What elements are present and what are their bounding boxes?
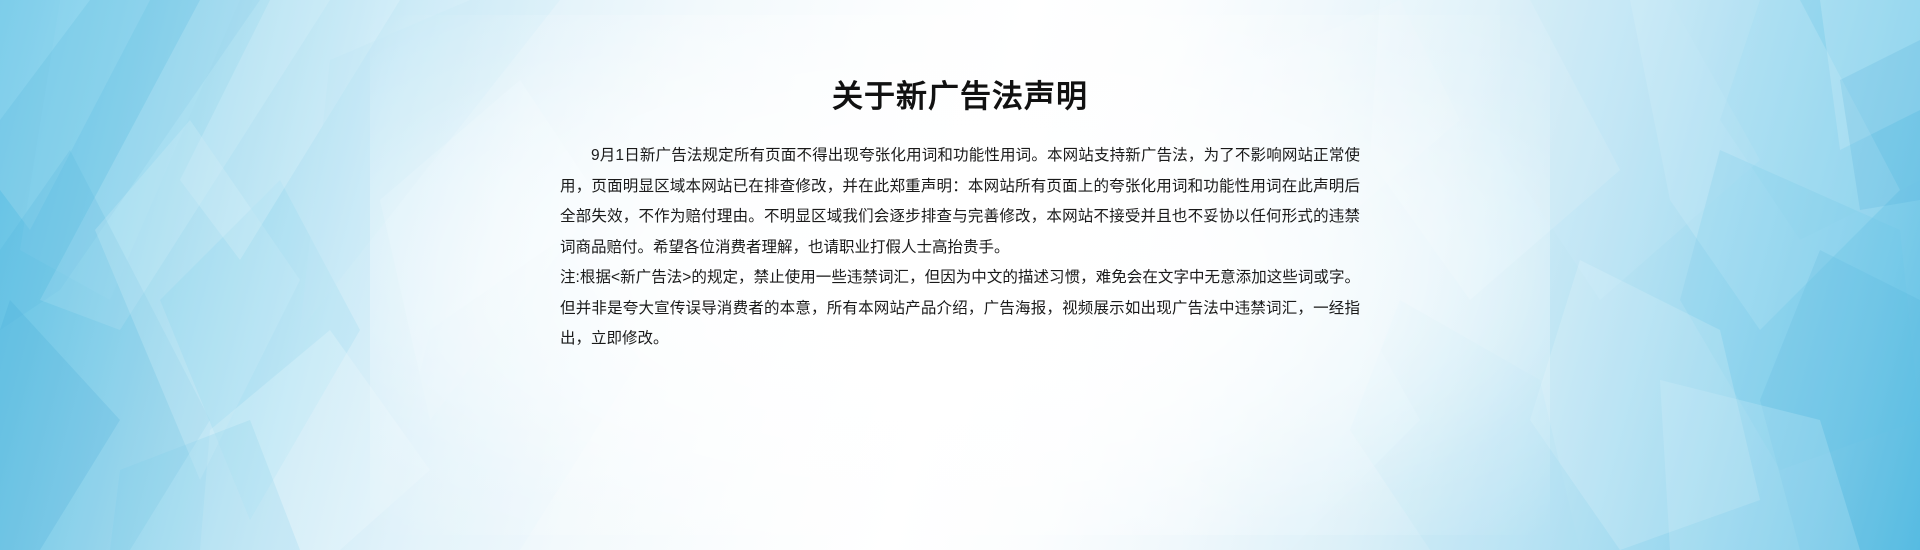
statement-paragraph-1: 9月1日新广告法规定所有页面不得出现夸张化用词和功能性用词。本网站支持新广告法，… xyxy=(560,141,1360,263)
statement-paragraph-2: 注:根据<新广告法>的规定，禁止使用一些违禁词汇，但因为中文的描述习惯，难免会在… xyxy=(560,263,1360,355)
statement-content: 关于新广告法声明 9月1日新广告法规定所有页面不得出现夸张化用词和功能性用词。本… xyxy=(560,0,1360,355)
page-title: 关于新广告法声明 xyxy=(560,78,1360,115)
advertising-law-statement-banner: 关于新广告法声明 9月1日新广告法规定所有页面不得出现夸张化用词和功能性用词。本… xyxy=(0,0,1920,550)
